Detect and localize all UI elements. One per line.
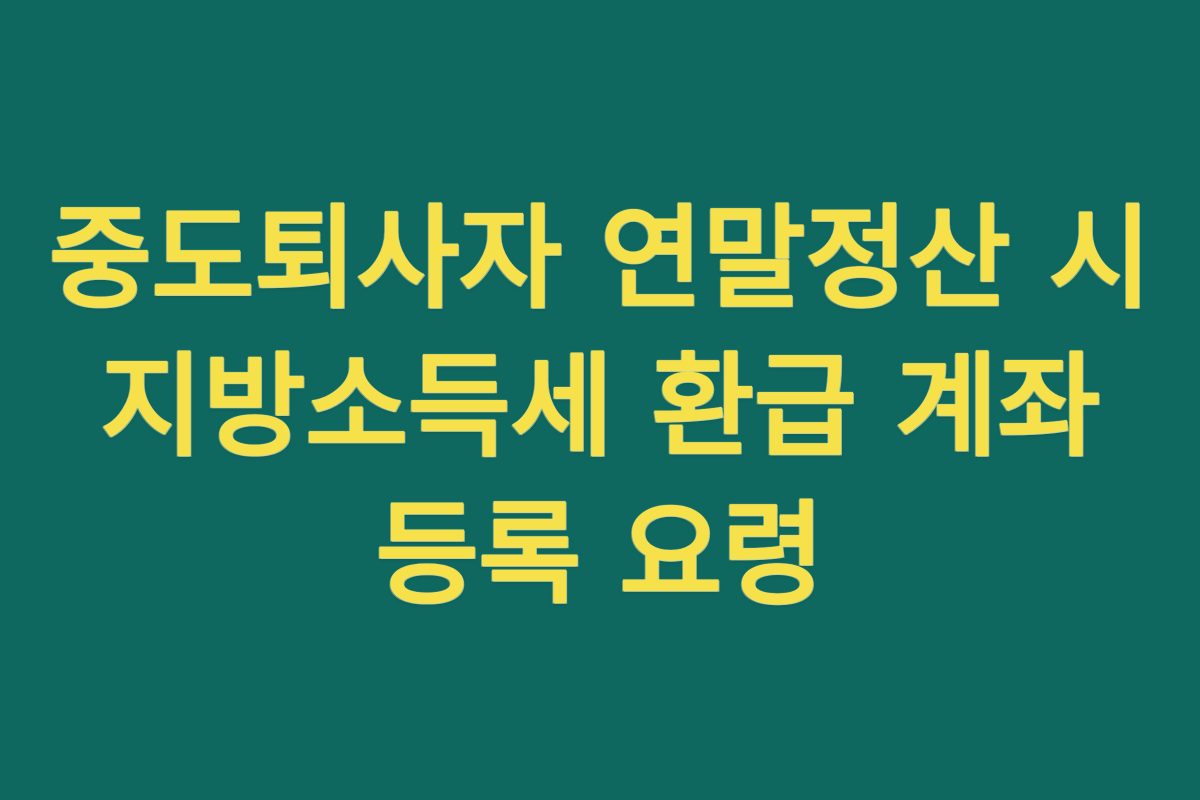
headline-line-1: 중도퇴사자 연말정산 시 <box>40 186 1160 334</box>
headline-line-3: 등록 요령 <box>40 482 1160 630</box>
headline-line-2: 지방소득세 환급 계좌 <box>40 334 1160 482</box>
thumbnail-card: 중도퇴사자 연말정산 시 지방소득세 환급 계좌 등록 요령 <box>0 0 1200 800</box>
headline-block: 중도퇴사자 연말정산 시 지방소득세 환급 계좌 등록 요령 <box>40 186 1160 629</box>
